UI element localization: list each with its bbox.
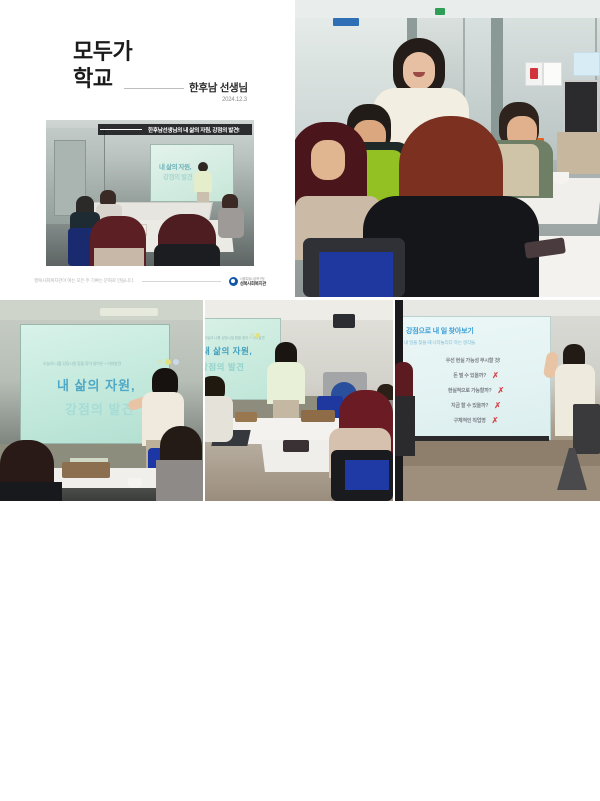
wood-box-right: [301, 410, 335, 422]
foreground-participant-left-body: [94, 248, 144, 266]
slide-line-1: 내 삶의 자원,: [57, 375, 136, 394]
slide-line-1: 내 삶의 자원,: [205, 345, 252, 357]
exit-sign-icon: [435, 8, 445, 15]
x-mark-icon: ✗: [492, 417, 499, 425]
screen-line-2: 강점의 발견: [163, 171, 192, 181]
organization-logo: 서울특별시성북구청 성북사회복지관: [229, 277, 266, 286]
event-date: 2024.12.3: [222, 97, 247, 103]
presenter-face: [403, 52, 435, 90]
presenter-body: [194, 171, 212, 193]
participant-left-body: [0, 482, 62, 501]
screen-bottom-bar: [401, 436, 549, 441]
logo-circle-icon: [229, 277, 238, 286]
logo-sub-text: 서울특별시성북구청: [240, 277, 266, 281]
ceiling-projector: [333, 314, 355, 328]
photo-lecture-screen-left: 오늘의 나를 성장시킬 힘을 찾아 살아온 + 의미발견 내 삶의 자원, 강점…: [0, 300, 203, 501]
slide-dots: [157, 359, 179, 365]
presenter-sweater: [267, 362, 305, 404]
banner-rule: [100, 129, 142, 130]
participant-body-e: [218, 208, 244, 238]
smartphone-on-table: [283, 440, 309, 452]
projection-screen: 내 삶의 자원, 강점의 발견: [150, 144, 234, 202]
list-item: 현실적으로 가능할까? ✗: [402, 383, 550, 398]
participant-right-body: [156, 460, 203, 501]
edge-participant-body: [395, 396, 415, 456]
logo-main-text: 성북사회복지관: [240, 281, 266, 286]
wood-tray: [62, 462, 110, 478]
list-item: 돈 벌 수 있을까? ✗: [402, 368, 550, 383]
title-card-header: 모두가 학교 한후남 선생님 2024.12.3: [0, 18, 293, 96]
wall-poster-korean: [525, 62, 543, 86]
slide-subtitle: 내 일을 찾을 때 나라놀리다 하는 생각들.: [404, 340, 476, 346]
foreground-left-face: [311, 140, 345, 180]
photo-caption-banner: 한후남선생님의 내 삶의 자원, 강점의 발견!: [98, 124, 252, 135]
list-item-label: 구체적인 직업명: [454, 417, 486, 424]
list-item-label: 우선 현실 가능성 무시할 것!: [446, 357, 501, 364]
projection-screen: 강점으로 내 일 찾아보기 내 일을 찾을 때 나라놀리다 하는 생각들. 우선…: [401, 316, 551, 440]
title-card-footer: 행복사회복지관이 여는 모든 주 기쁘는 문화로 만듭니다. 서울특별시성북구청…: [34, 274, 266, 288]
list-item-label: 현실적으로 가능할까?: [448, 387, 492, 394]
podium: [573, 404, 600, 454]
banner-text: 한후남선생님의 내 삶의 자원, 강점의 발견!: [148, 126, 239, 134]
slide-line-2: 강점의 발견: [65, 399, 134, 418]
slide-line-2: 강점의 발견: [205, 361, 244, 373]
poster-mark: [530, 68, 538, 79]
panel-seam-vertical-bottom-1: [203, 600, 205, 801]
footer-rule: [142, 281, 221, 282]
x-mark-icon: ✗: [492, 372, 499, 380]
photo-group-discussion: [295, 0, 600, 297]
screen-line-1: 내 삶의 자원,: [159, 161, 191, 171]
list-item-label: 돈 벌 수 있을까?: [453, 372, 486, 379]
slide-dots: [250, 333, 260, 338]
list-item: 우선 현실 가능성 무시할 것!: [402, 353, 550, 368]
photo-lecture-room-wide: 오늘의 나를 성장시킬 힘을 찾아 + 의미발견 내 삶의 자원, 강점의 발견: [205, 300, 393, 501]
wall-poster-blue: [573, 52, 600, 76]
list-item: 지금 할 수 있을까? ✗: [402, 398, 550, 413]
ceiling: [205, 300, 393, 320]
collage-top-row: 모두가 학교 한후남 선생님 2024.12.3 내 삶의 자원, 강점의 발견: [0, 0, 600, 297]
paper-cup: [128, 478, 142, 488]
slide-bullet-list: 우선 현실 가능성 무시할 것! 돈 벌 수 있을까? ✗ 현실적으로 가능할까…: [402, 353, 550, 428]
title-line-1: 모두가: [73, 39, 132, 64]
slide-title: 강점으로 내 일 찾아보기: [406, 326, 474, 336]
wall-poster-white: [543, 62, 562, 86]
coffee-cup: [553, 172, 569, 184]
title-divider-rule: [124, 88, 184, 89]
panel-seam-vertical-bottom-2: [393, 600, 395, 801]
ceiling-light: [100, 308, 158, 316]
list-item-label: 지금 할 수 있을까?: [451, 402, 488, 409]
ceiling: [295, 0, 600, 18]
speaker-name: 한후남 선생님: [189, 80, 248, 95]
x-mark-icon: ✗: [494, 402, 501, 410]
x-mark-icon: ✗: [497, 387, 504, 395]
footer-note: 행복사회복지관이 여는 모든 주 기쁘는 문화로 만듭니다.: [34, 278, 134, 284]
list-item: 구체적인 직업명 ✗: [402, 413, 550, 428]
foreground-participant-right-body: [154, 244, 220, 266]
photo-lecture-screen-right: 강점으로 내 일 찾아보기 내 일을 찾을 때 나라놀리다 하는 생각들. 우선…: [395, 300, 600, 501]
title-card-photo: 내 삶의 자원, 강점의 발견: [46, 120, 254, 266]
foreground-chair-seat: [319, 252, 393, 297]
panel-seam-vertical-top: [293, 0, 295, 297]
slide-subtitle: 오늘의 나를 성장시킬 힘을 찾아 살아온 + 의미발견: [43, 361, 121, 367]
collage-bottom-row: 오늘의 나를 성장시킬 힘을 찾아 살아온 + 의미발견 내 삶의 자원, 강점…: [0, 300, 600, 501]
page-title: 모두가 학교: [73, 38, 132, 92]
wall-sign: [333, 18, 359, 26]
logo-text-block: 서울특별시성북구청 성북사회복지관: [240, 277, 266, 286]
participant-left-body: [205, 396, 233, 442]
ceiling: [395, 300, 600, 316]
photo-collage: 모두가 학교 한후남 선생님 2024.12.3 내 삶의 자원, 강점의 발견: [0, 0, 600, 501]
foreground-chair-seat: [345, 460, 389, 490]
wood-box-left: [235, 412, 257, 422]
title-card-panel: 모두가 학교 한후남 선생님 2024.12.3 내 삶의 자원, 강점의 발견: [0, 0, 293, 297]
wood-cabinet: [557, 132, 600, 174]
